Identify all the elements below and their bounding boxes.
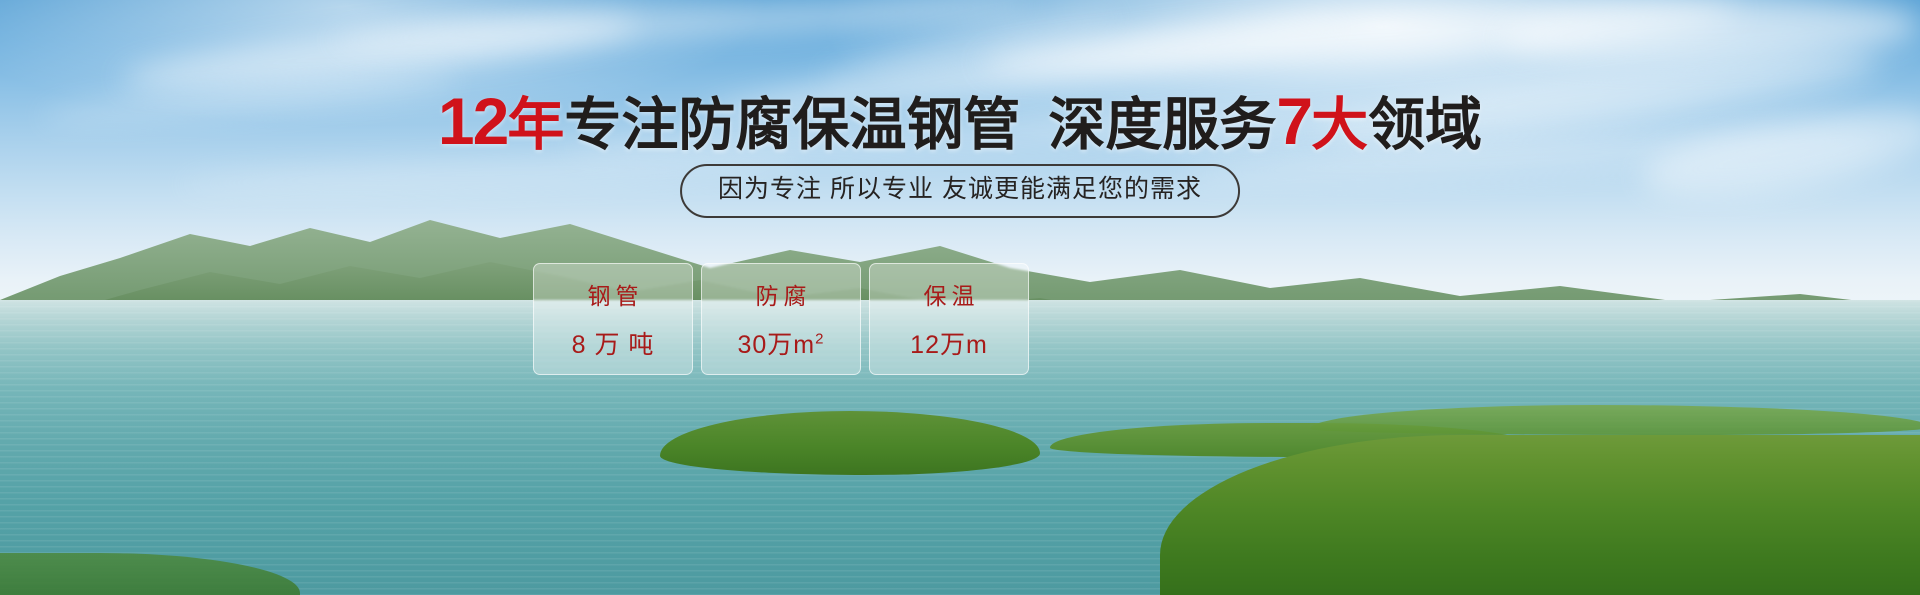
stat-card-value: 8 万 吨	[572, 325, 655, 361]
stat-card-value: 12万m	[910, 325, 988, 361]
stat-card-value-text: 8 万 吨	[572, 331, 655, 359]
headline-tail-text: 领域	[1368, 93, 1482, 157]
headline-fields-measure: 大	[1311, 93, 1368, 157]
stat-card-title: 钢管	[583, 277, 644, 311]
stat-card-value-text: 30万m	[738, 331, 816, 359]
stat-card-title: 防腐	[751, 277, 812, 311]
stat-card-value: 30万m2	[738, 325, 825, 361]
stat-cards: 钢管 8 万 吨 防腐 30万m2 保温 12万m	[533, 263, 1029, 375]
stat-card-insulation[interactable]: 保温 12万m	[869, 263, 1029, 375]
subtitle-text: 因为专注 所以专业 友诚更能满足您的需求	[718, 175, 1202, 203]
headline: 12年专注防腐保温钢管深度服务7大领域	[0, 88, 1920, 154]
stat-card-value-superscript: 2	[815, 331, 824, 348]
promo-banner: 12年专注防腐保温钢管深度服务7大领域 因为专注 所以专业 友诚更能满足您的需求…	[0, 0, 1920, 595]
stat-card-title: 保温	[919, 277, 980, 311]
headline-main-text: 专注防腐保温钢管	[564, 93, 1020, 157]
subtitle-pill: 因为专注 所以专业 友诚更能满足您的需求	[680, 164, 1240, 218]
stat-card-value-text: 12万m	[910, 331, 988, 359]
headline-years-unit: 年	[507, 93, 564, 157]
banner-content: 12年专注防腐保温钢管深度服务7大领域 因为专注 所以专业 友诚更能满足您的需求…	[0, 0, 1920, 595]
stat-card-steel-pipe[interactable]: 钢管 8 万 吨	[533, 263, 693, 375]
headline-fields-number: 7	[1276, 84, 1311, 158]
stat-card-anticorrosion[interactable]: 防腐 30万m2	[701, 263, 861, 375]
headline-mid-text: 深度服务	[1048, 93, 1276, 157]
headline-years-number: 12	[438, 84, 507, 158]
